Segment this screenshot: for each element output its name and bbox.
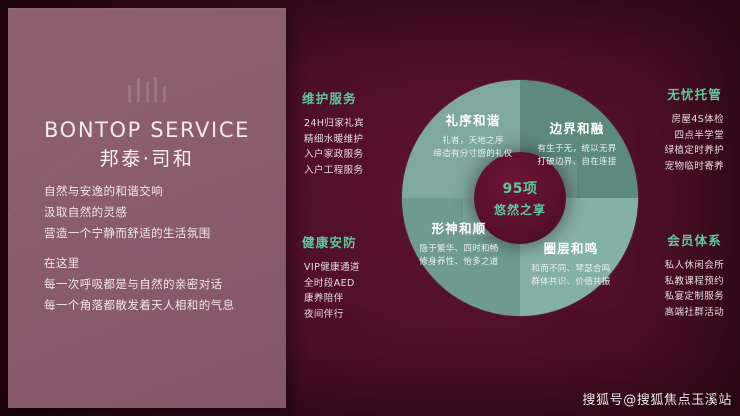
feature-item: 入户工程服务	[296, 163, 408, 179]
feature-title-health: 健康安防	[296, 232, 408, 251]
wheel-label-title: 圈层和鸣	[512, 238, 630, 257]
wheel-label-title: 礼序和谐	[414, 110, 532, 129]
feature-title-maintenance: 维护服务	[296, 88, 408, 107]
wheel-label-line: 礼者，天地之序	[414, 135, 532, 148]
slide-root: BONTOP SERVICE 邦泰·司和 自然与安逸的和谐交响 汲取自然的灵感 …	[0, 0, 740, 416]
wheel-label-top-right: 边界和融 有生于无，统以无界 打破边界、自在连接	[518, 118, 636, 169]
intro-copy-line: 每一次呼吸都是与自然的亲密对话	[44, 274, 274, 295]
wheel-label-line: 群体共识、价值共振	[512, 276, 630, 289]
wheel-label-line: 有生于无，统以无界	[518, 143, 636, 156]
feature-group-maintenance: 维护服务 24H归家礼宾 精细水暖维护 入户家政服务 入户工程服务	[296, 88, 408, 178]
feature-item: 康养陪伴	[296, 291, 408, 307]
wheel-label-line: 缔造有分寸感的礼仪	[414, 148, 532, 161]
wheel-label-bottom-right: 圈层和鸣 和而不同、琴瑟合鸣 群体共识、价值共振	[512, 238, 630, 289]
wheel-center-count: 95项	[503, 178, 538, 198]
feature-item: 精细水暖维护	[296, 132, 408, 148]
intro-copy-line: 营造一个宁静而舒适的生活氛围	[44, 223, 274, 244]
wheel-center-label: 悠然之享	[494, 201, 546, 218]
watermark-text: 搜狐号@搜狐焦点玉溪站	[582, 389, 732, 408]
intro-copy-line: 自然与安逸的和谐交响	[44, 181, 274, 202]
feature-item: VIP健康通道	[296, 260, 408, 276]
brand-name-cn: 邦泰·司和	[8, 144, 286, 171]
feature-item: 24H归家礼宾	[296, 116, 408, 132]
wheel-label-line: 和而不同、琴瑟合鸣	[512, 263, 630, 276]
wheel-label-line: 修身养性、怡多之道	[400, 256, 518, 269]
feature-item: 入户家政服务	[296, 147, 408, 163]
intro-copy-line: 在这里	[44, 253, 274, 274]
wheel-label-top-left: 礼序和谐 礼者，天地之序 缔造有分寸感的礼仪	[414, 110, 532, 161]
wheel-label-line: 隐于繁华、四时和畅	[400, 243, 518, 256]
feature-item: 全时段AED	[296, 276, 408, 292]
intro-copy-line: 每一个角落都散发着天人相和的气息	[44, 295, 274, 316]
brand-name-en: BONTOP SERVICE	[8, 118, 286, 142]
feature-group-health: 健康安防 VIP健康通道 全时段AED 康养陪伴 夜间伴行	[296, 232, 408, 322]
intro-copy-line: 汲取自然的灵感	[44, 202, 274, 223]
wheel-label-bottom-left: 形神和顺 隐于繁华、四时和畅 修身养性、怡多之道	[400, 218, 518, 269]
bontop-bars-logo-icon	[128, 76, 166, 102]
wheel-label-title: 边界和融	[518, 118, 636, 137]
intro-copy-block: 自然与安逸的和谐交响 汲取自然的灵感 营造一个宁静而舒适的生活氛围 在这里 每一…	[44, 181, 274, 316]
wheel-label-line: 打破边界、自在连接	[518, 156, 636, 169]
feature-item: 夜间伴行	[296, 307, 408, 323]
left-intro-panel: BONTOP SERVICE 邦泰·司和 自然与安逸的和谐交响 汲取自然的灵感 …	[8, 8, 286, 408]
wheel-label-title: 形神和顺	[400, 218, 518, 237]
copy-spacer	[44, 244, 274, 253]
